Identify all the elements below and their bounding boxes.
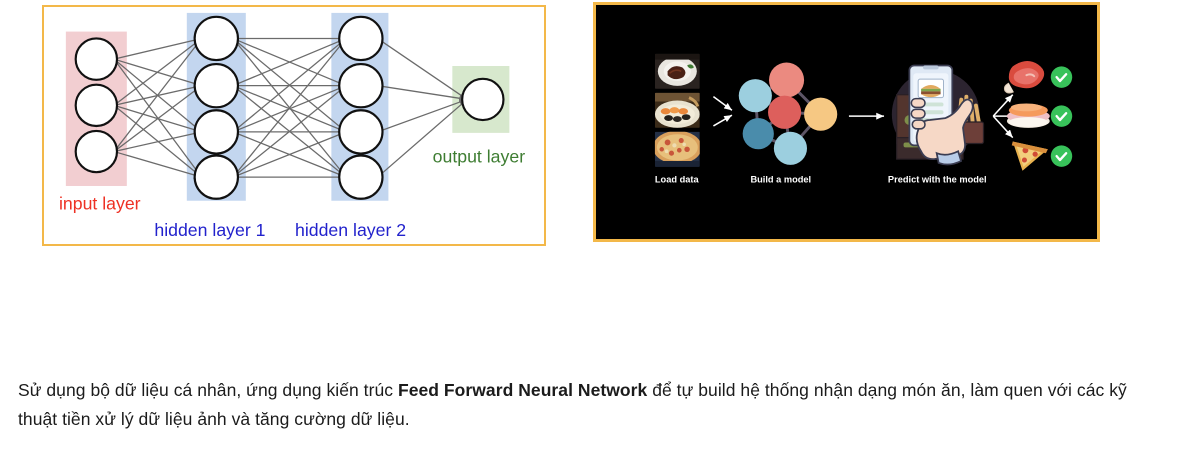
- neural-network-nodes-icon: [739, 63, 837, 165]
- input-layer-nodes: [76, 38, 117, 172]
- neural-network-figure: input layer hidden layer 1 hidden layer …: [42, 5, 546, 246]
- neuron: [76, 85, 117, 126]
- neuron: [339, 64, 382, 107]
- neuron: [195, 17, 238, 60]
- neuron: [195, 155, 238, 198]
- check-badge-icon: [1051, 66, 1072, 87]
- steak-plate-photo: [655, 54, 700, 89]
- neuron: [339, 110, 382, 153]
- prediction-results: [1004, 61, 1072, 171]
- neuron: [76, 38, 117, 79]
- ml-pipeline-figure: Load data Build a model Predict with the…: [593, 2, 1100, 242]
- pizza-photo: [653, 131, 702, 167]
- sushi-emoji: [1007, 103, 1050, 127]
- node-light-blue2: [774, 132, 807, 165]
- input-layer-label: input layer: [59, 194, 141, 214]
- sushi-platter-photo: [655, 93, 700, 128]
- hidden-layer-1-label: hidden layer 1: [154, 220, 265, 240]
- caption-part-1: Sử dụng bộ dữ liệu cá nhân, ứng dụng kiế…: [18, 380, 398, 400]
- hidden-layer-2-label: hidden layer 2: [295, 220, 406, 240]
- page-caption: Sử dụng bộ dữ liệu cá nhân, ứng dụng kiế…: [18, 376, 1168, 434]
- node-red: [768, 96, 801, 129]
- check-badge-icon: [1051, 105, 1072, 126]
- step-label-build-model: Build a model: [750, 174, 811, 184]
- step-label-predict: Predict with the model: [888, 174, 987, 184]
- neuron: [462, 79, 503, 120]
- neuron: [195, 110, 238, 153]
- pizza-emoji: [1012, 142, 1048, 171]
- ml-pipeline-svg: Load data Build a model Predict with the…: [596, 5, 1097, 239]
- node-steel-blue: [743, 118, 774, 149]
- output-layer-label: output layer: [433, 146, 526, 166]
- node-light-blue: [739, 79, 772, 112]
- neuron: [339, 155, 382, 198]
- caption-bold-term: Feed Forward Neural Network: [398, 380, 647, 400]
- check-badge-icon: [1051, 145, 1072, 166]
- neuron: [195, 64, 238, 107]
- edges-hidden1-to-hidden2: [233, 38, 346, 177]
- node-salmon: [769, 63, 804, 98]
- load-data-thumbnails: [653, 54, 702, 167]
- arrow-load-to-build: [713, 97, 732, 126]
- neuron: [339, 17, 382, 60]
- output-layer-nodes: [462, 79, 503, 120]
- step-label-load-data: Load data: [655, 174, 700, 184]
- node-orange: [804, 98, 837, 131]
- steak-emoji: [1004, 61, 1044, 93]
- neural-network-svg: input layer hidden layer 1 hidden layer …: [44, 7, 544, 244]
- neuron: [76, 131, 117, 172]
- hand-phone-app-icon: [892, 65, 984, 164]
